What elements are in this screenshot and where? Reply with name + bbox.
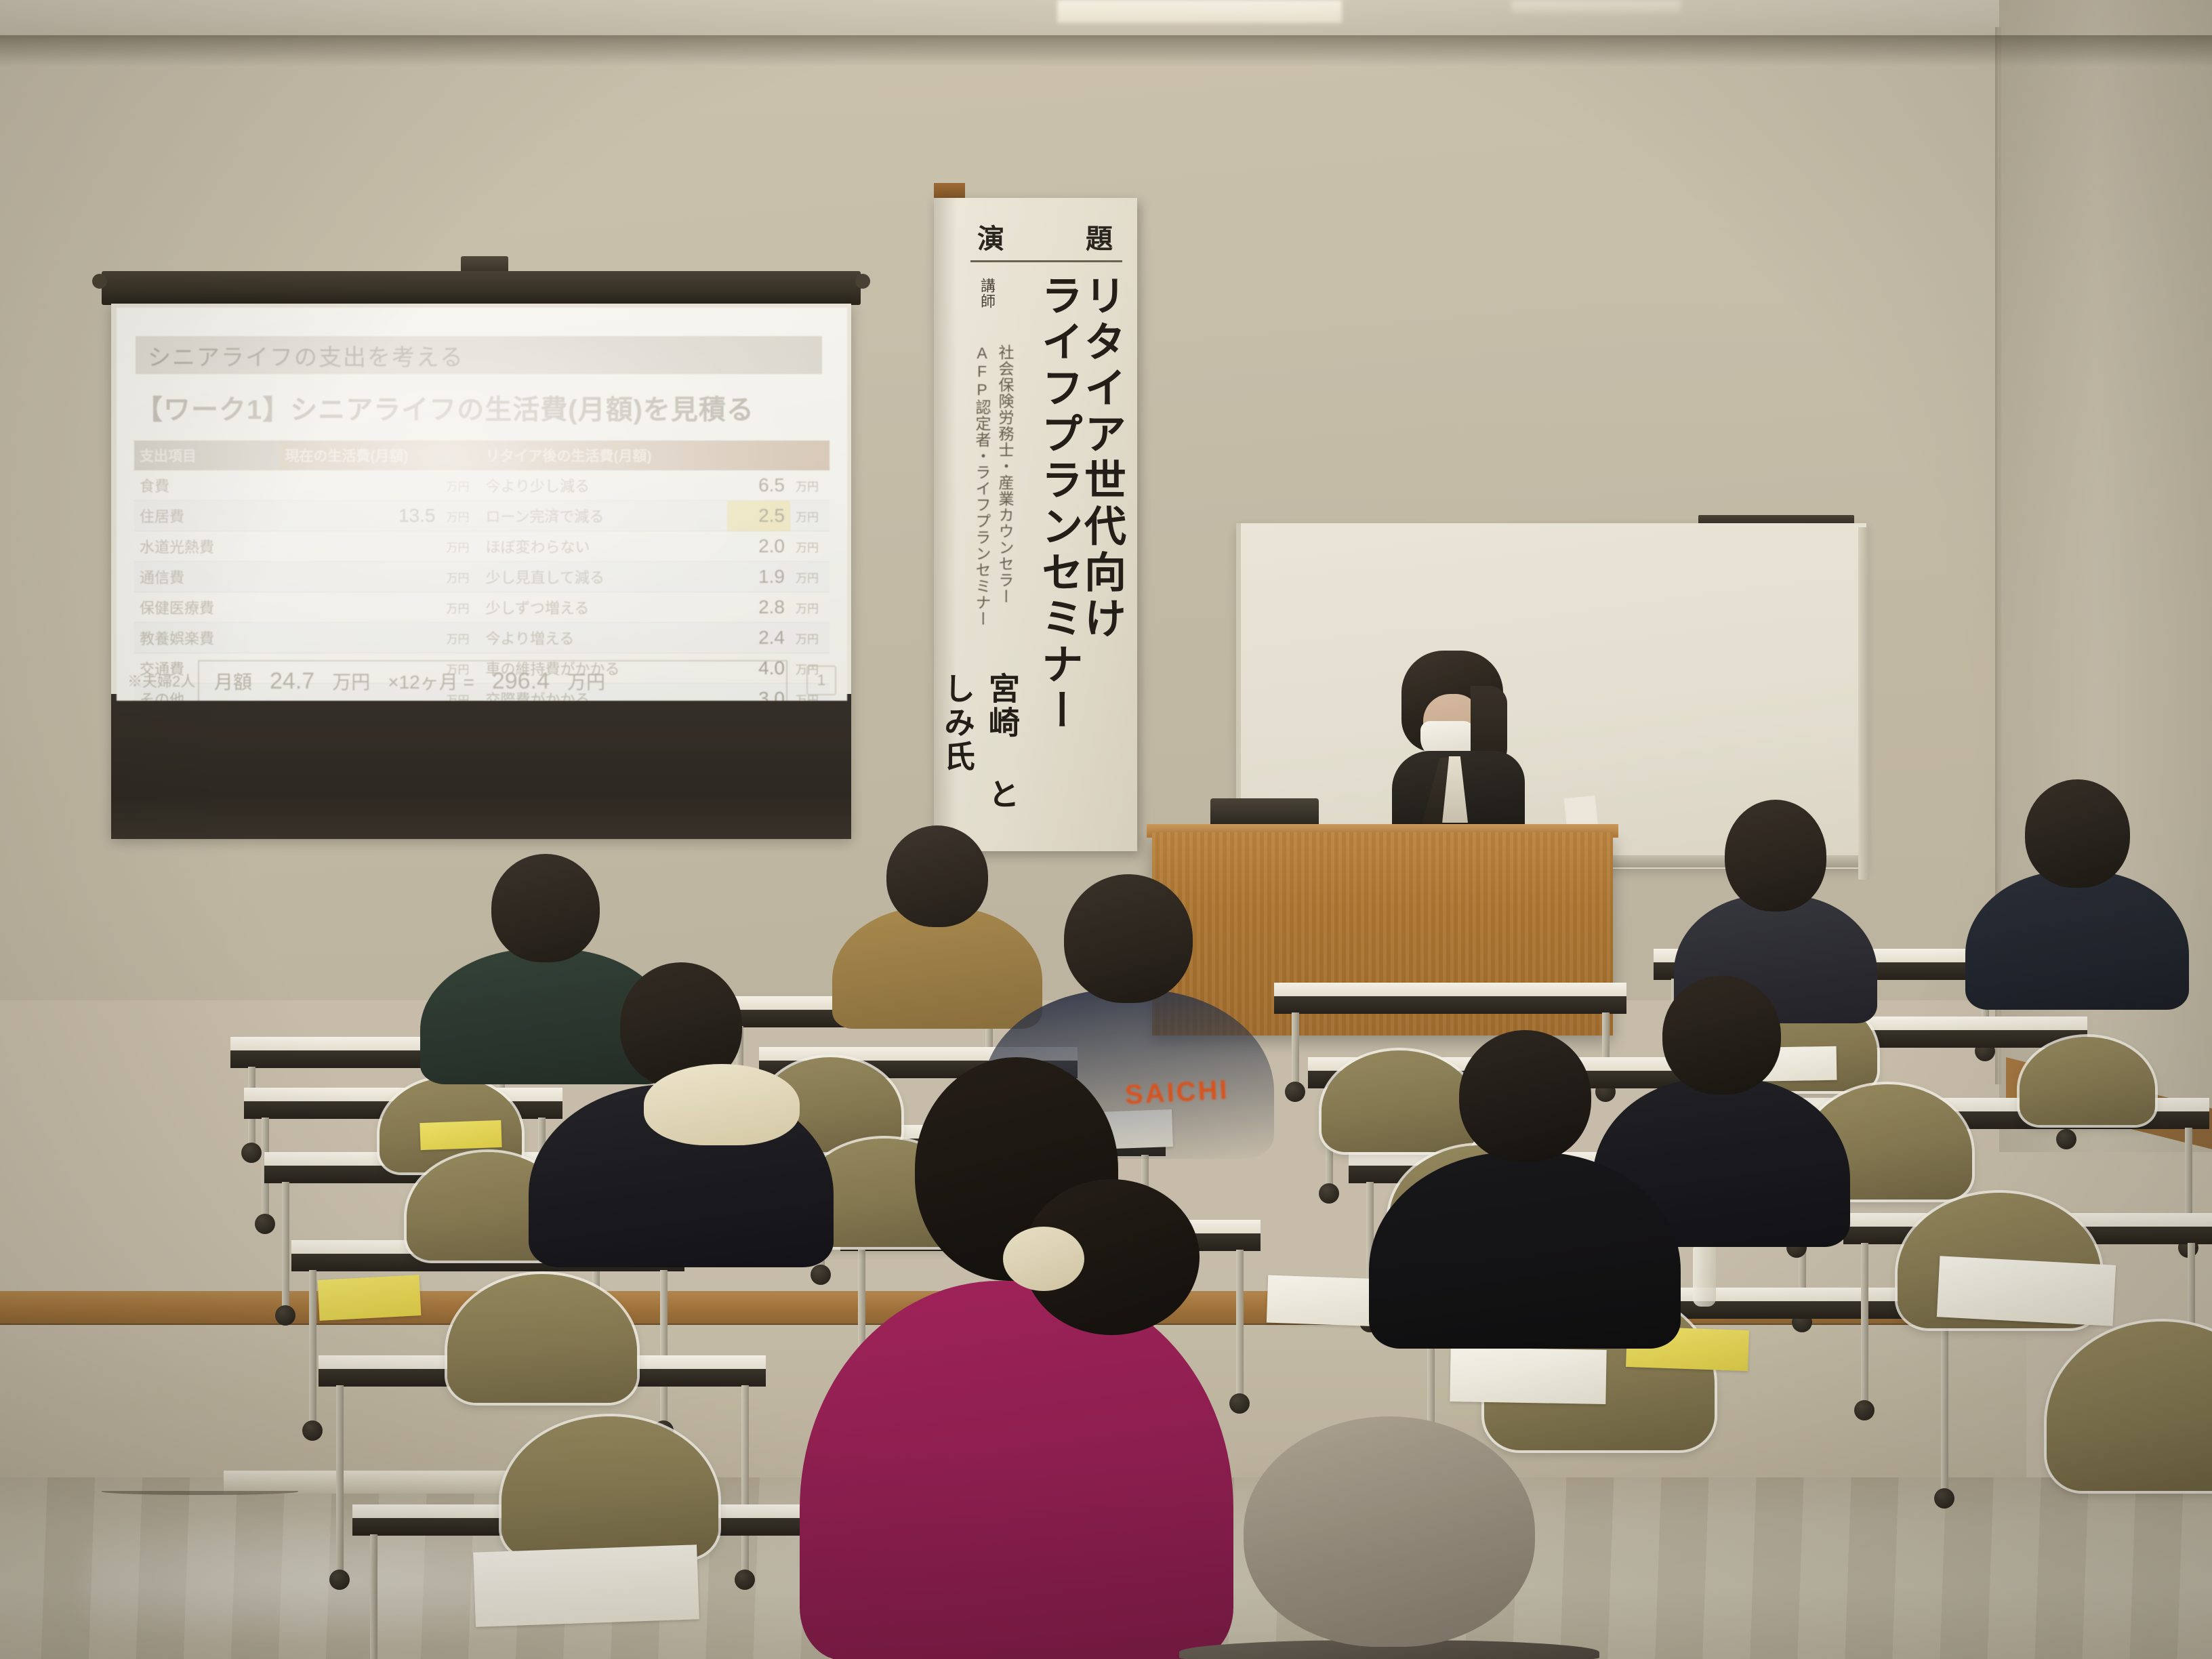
- slide-table-cell: [279, 623, 441, 653]
- projection-screen: シニアライフの支出を考える 【ワーク1】シニアライフの生活費(月額)を見積る 支…: [102, 271, 861, 840]
- slide-table-cell: 2.8: [727, 592, 790, 623]
- slide-table-cell: [279, 531, 441, 562]
- banner-header-char-2: 題: [1086, 217, 1113, 256]
- slide-table-cell: 食費: [134, 470, 279, 501]
- slide-col-retire: リタイア後の生活費(月額): [480, 441, 829, 470]
- chair: [2047, 1322, 2212, 1491]
- slide-table-cell: 6.5: [727, 470, 790, 501]
- slide-total-month-label: 月額: [214, 668, 252, 695]
- audience-head: [491, 854, 600, 962]
- desk-leg: [660, 1270, 668, 1426]
- ceiling-light-secondary: [1511, 0, 1681, 14]
- banner-header-char-1: 演: [977, 217, 1004, 256]
- slide-table-cell: 万円: [441, 470, 480, 501]
- banner-speaker-name: 宮崎 としみ氏: [935, 672, 1025, 842]
- slide-table-cell: ほぼ変わらない: [480, 531, 726, 562]
- slide-table-cell: [279, 470, 441, 501]
- slide-table-cell: 万円: [441, 531, 480, 562]
- audience-member: [529, 962, 834, 1267]
- desk-caster: [302, 1420, 323, 1441]
- slide-table-cell: 今より増える: [480, 623, 726, 653]
- slide-table-row: 教養娯楽費万円今より増える2.4万円: [134, 623, 829, 653]
- slide-table-cell: 万円: [790, 562, 829, 592]
- slide-table-cell: 2.0: [727, 531, 790, 562]
- desk-top: [1274, 983, 1626, 998]
- desk-caster: [275, 1305, 295, 1326]
- banner-divider-rule: [970, 260, 1122, 262]
- slide-table-cell: ローン完済で減る: [480, 501, 726, 531]
- desk-leg: [1941, 1317, 1948, 1494]
- desk-caster: [1854, 1400, 1875, 1420]
- desk-caster: [1319, 1183, 1339, 1204]
- projector-cable: [102, 1488, 298, 1495]
- slide-table-cell: 万円: [790, 592, 829, 623]
- presenter: [1376, 651, 1538, 847]
- slide-total-multiplier: ×12ヶ月 =: [388, 668, 474, 695]
- slide-table-cell: 水道光熱費: [134, 531, 279, 562]
- banner-header: 演 題: [977, 217, 1113, 256]
- slide-total-yearly-value: 296.4: [492, 668, 550, 695]
- slide-total-box: 月額 24.7 万円 ×12ヶ月 = 296.4 万円: [198, 660, 787, 701]
- desk-caster: [2056, 1129, 2076, 1149]
- slide-table-cell: 万円: [441, 562, 480, 592]
- slide-table-cell: 13.5: [279, 501, 441, 531]
- slide-table-cell: [279, 592, 441, 623]
- slide-page-number: 1: [806, 665, 836, 695]
- podium-microphone: [1210, 798, 1319, 827]
- worksheet-paper: [473, 1544, 699, 1626]
- ceiling-light: [1057, 0, 1342, 23]
- slide-table-cell: 万円: [790, 531, 829, 562]
- slide-table-cell: 万円: [441, 501, 480, 531]
- desk-leg: [741, 1385, 749, 1575]
- slide-table-cell: 2.4: [727, 623, 790, 653]
- desk-leg: [309, 1270, 316, 1426]
- banner-credential-line-2: AFP認定者・ライフプランセミナー: [970, 344, 994, 663]
- screen-endcap-right: [855, 274, 870, 289]
- slide-table-cell: 教養娯楽費: [134, 623, 279, 653]
- slide-table-cell: [279, 562, 441, 592]
- ceiling-shadow: [0, 35, 2212, 66]
- screen-endcap-left: [92, 274, 107, 289]
- slide-table-row: 住居費13.5万円ローン完済で減る2.5万円: [134, 501, 829, 531]
- desk-caster: [241, 1143, 262, 1163]
- slide-table-cell: 万円: [441, 623, 480, 653]
- desk-caster: [1285, 1082, 1305, 1102]
- slide-table-cell: 万円: [790, 623, 829, 653]
- desk-leg: [282, 1182, 289, 1311]
- slide-total-monthly-value: 24.7: [270, 668, 314, 695]
- audience-torso: [800, 1281, 1233, 1659]
- audience-head: [1459, 1030, 1591, 1162]
- desk-leg: [1861, 1243, 1868, 1406]
- slide-table-cell: 保健医療費: [134, 592, 279, 623]
- screen-valance: [102, 271, 861, 305]
- desk-caster: [735, 1570, 755, 1590]
- slide-total-prefix: ※夫婦2人: [127, 670, 195, 691]
- slide-table-cell: 今より少し減る: [480, 470, 726, 501]
- worksheet-paper: [419, 1120, 501, 1150]
- worksheet-paper: [318, 1275, 422, 1321]
- desk-edge: [1274, 996, 1626, 1014]
- slide-table-header-row: 支出項目 現在の生活費(月額) リタイア後の生活費(月額): [134, 441, 829, 470]
- banner-title-text: リタイア世代向け ライフプランセミナー: [1037, 274, 1122, 836]
- worksheet-paper: [1937, 1256, 2116, 1326]
- slide-table-cell: 少しずつ増える: [480, 592, 726, 623]
- slide-table-row: 食費万円今より少し減る6.5万円: [134, 470, 829, 501]
- slide-col-item: 支出項目: [134, 441, 279, 470]
- audience-head: [1244, 1416, 1535, 1647]
- audience-torso: [1369, 1152, 1681, 1349]
- slide-table-cell: 通信費: [134, 562, 279, 592]
- audience-head: [886, 825, 988, 927]
- water-bottle: [1693, 1244, 1716, 1307]
- audience-head: [1064, 874, 1193, 1003]
- desk-caster: [1934, 1488, 1954, 1509]
- photo-scene: シニアライフの支出を考える 【ワーク1】シニアライフの生活費(月額)を見積る 支…: [0, 0, 2212, 1659]
- audience-scarf: [644, 1064, 800, 1145]
- desk-caster: [255, 1214, 275, 1234]
- slide-table-cell: 少し見直して減る: [480, 562, 726, 592]
- slide-total-month-unit: 万円: [332, 668, 370, 695]
- projected-slide: シニアライフの支出を考える 【ワーク1】シニアライフの生活費(月額)を見積る 支…: [117, 308, 847, 701]
- banner-speaker-label: 講師: [976, 278, 998, 335]
- audience-head: [1725, 800, 1826, 912]
- screen-unlit-area: [111, 694, 851, 839]
- slide-total-year-unit: 万円: [567, 668, 605, 695]
- audience-member: [1965, 779, 2189, 1010]
- slide-table-row: 水道光熱費万円ほぼ変わらない2.0万円: [134, 531, 829, 562]
- desk-caster: [329, 1570, 350, 1590]
- audience-member: [800, 1057, 1233, 1659]
- audience-torso: [1965, 871, 2189, 1010]
- audience-head: [2025, 779, 2130, 888]
- audience-member: [1179, 1416, 1599, 1659]
- slide-subheader: シニアライフの支出を考える: [136, 336, 822, 374]
- desk-leg: [1292, 1012, 1299, 1087]
- slide-table-cell: 住居費: [134, 501, 279, 531]
- slide-table-row: 通信費万円少し見直して減る1.9万円: [134, 562, 829, 592]
- slide-table-cell: 万円: [790, 501, 829, 531]
- slide-title: 【ワーク1】シニアライフの生活費(月額)を見積る: [136, 388, 837, 427]
- slide-table-cell: 2.5: [727, 501, 790, 531]
- slide-table-cell: 1.9: [727, 562, 790, 592]
- banner-credential-line-1: 社会保険労務士・産業カウンセラー: [994, 344, 1017, 663]
- slide-col-current: 現在の生活費(月額): [279, 441, 480, 470]
- seminar-banner: 演 題 リタイア世代向け ライフプランセミナー 講師 社会保険労務士・産業カウン…: [934, 198, 1137, 851]
- worksheet-paper: [1450, 1347, 1606, 1404]
- slide-table-row: 保健医療費万円少しずつ増える2.8万円: [134, 592, 829, 623]
- desk-leg: [336, 1385, 344, 1575]
- slide-table-cell: 万円: [441, 592, 480, 623]
- audience-hair-scrunchie: [1003, 1227, 1084, 1291]
- slide-table-cell: 万円: [790, 470, 829, 501]
- desk-leg: [370, 1534, 377, 1659]
- audience-member: [1369, 1030, 1681, 1349]
- desk-leg: [1236, 1250, 1244, 1399]
